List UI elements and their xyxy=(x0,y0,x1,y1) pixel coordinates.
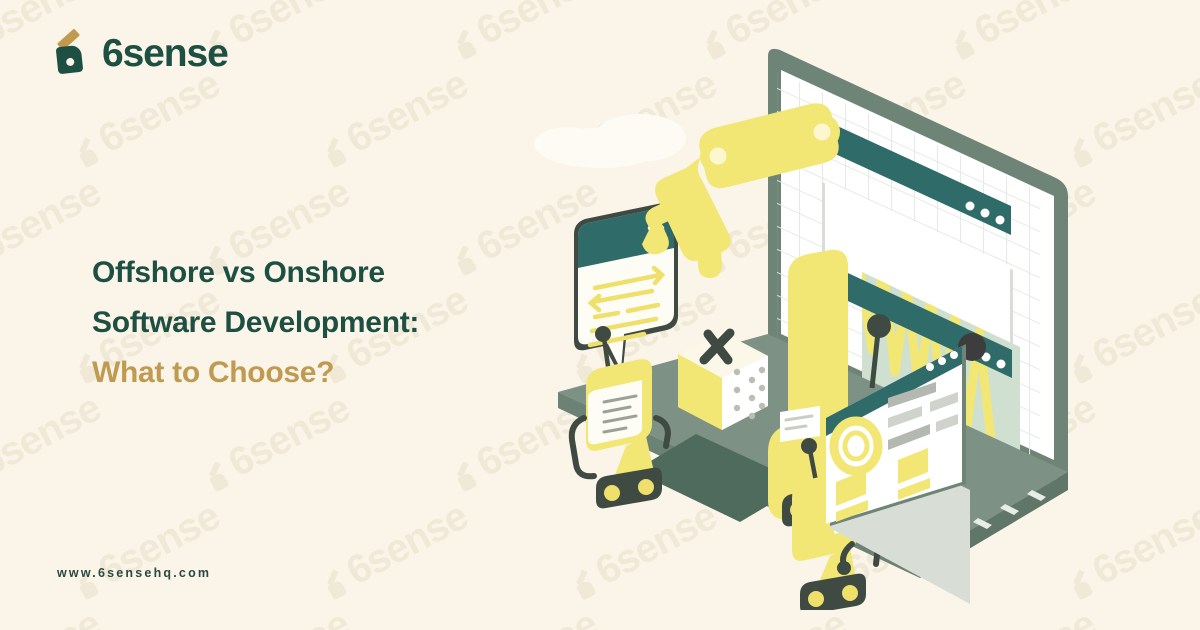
watermark-tile: 6sense xyxy=(67,494,226,607)
cloud-shape xyxy=(534,114,686,168)
watermark-label: 6sense xyxy=(221,386,356,486)
watermark-6sense-mark-icon xyxy=(323,138,352,169)
brand-logo[interactable]: 6sense xyxy=(56,32,228,76)
watermark-label: 6sense xyxy=(91,62,226,162)
watermark-6sense-mark-icon xyxy=(323,570,352,601)
watermark-6sense-mark-icon xyxy=(204,462,233,493)
watermark-6sense-mark-icon xyxy=(453,462,482,493)
watermark-label: 6sense xyxy=(0,386,108,486)
watermark-tile: 6sense xyxy=(197,386,356,499)
watermark-6sense-mark-icon xyxy=(453,30,482,61)
watermark-label: 6sense xyxy=(0,602,108,630)
hero-illustration xyxy=(500,20,1200,610)
watermark-6sense-mark-icon xyxy=(453,246,482,277)
watermark-label: 6sense xyxy=(340,62,475,162)
watermark-label: 6sense xyxy=(221,0,356,54)
brand-logo-wordmark: 6sense xyxy=(102,32,228,76)
page-title: Offshore vs Onshore Software Development… xyxy=(92,248,419,398)
watermark-tile: 6sense xyxy=(316,494,475,607)
watermark-6sense-mark-icon xyxy=(74,138,103,169)
watermark-tile: 6sense xyxy=(0,386,108,499)
headline-line-1: Offshore vs Onshore xyxy=(92,248,419,298)
headline-line-3: What to Choose? xyxy=(92,348,419,398)
watermark-tile: 6sense xyxy=(197,602,356,630)
watermark-tile: 6sense xyxy=(0,602,108,630)
watermark-tile: 6sense xyxy=(316,62,475,175)
watermark-label: 6sense xyxy=(340,494,475,594)
headline-line-2: Software Development: xyxy=(92,298,419,348)
watermark-tile: 6sense xyxy=(67,62,226,175)
6sense-logo-mark-icon xyxy=(56,32,90,76)
website-url[interactable]: www.6sensehq.com xyxy=(57,566,211,580)
watermark-label: 6sense xyxy=(221,602,356,630)
og-image-canvas: 6sense6sense6sense6sense6sense6sense6sen… xyxy=(0,0,1200,630)
